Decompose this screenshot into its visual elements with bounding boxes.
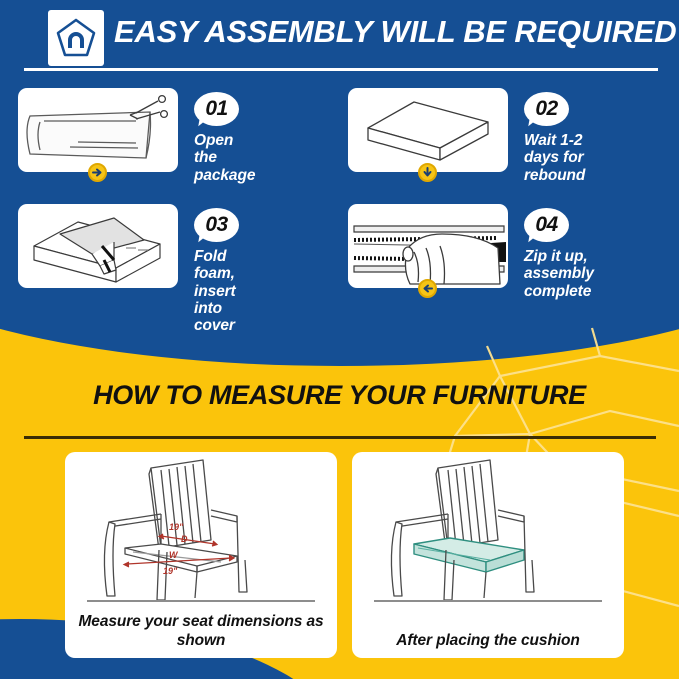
step-01-number: 01 <box>205 97 227 121</box>
step-02-number-badge: 02 <box>524 92 569 128</box>
measure-section-title: HOW TO MEASURE YOUR FURNITURE <box>0 380 679 411</box>
step-04-number-badge: 04 <box>524 208 569 244</box>
step-03-label: Fold foam, insert into cover <box>194 248 239 335</box>
measure-card-separator <box>374 600 602 602</box>
step-02-number: 02 <box>535 97 557 121</box>
measure-card-separator <box>87 600 315 602</box>
chair-with-dimension-arrows-icon: 19" D W 19" <box>65 452 337 602</box>
step-03-text: 03 Fold foam, insert into cover <box>194 208 239 335</box>
infographic-page: EASY ASSEMBLY WILL BE REQUIRED <box>0 0 679 679</box>
step-01-text: 01 Open the package <box>194 92 255 184</box>
step-02-text: 02 Wait 1-2 days for rebound <box>524 92 585 184</box>
rolled-package-icon <box>18 88 178 172</box>
foam-slab-icon <box>348 88 508 172</box>
header-divider <box>24 68 658 71</box>
measure-divider <box>24 436 656 439</box>
measure-card-caption: Measure your seat dimensions as shown <box>73 613 329 650</box>
page-title: EASY ASSEMBLY WILL BE REQUIRED <box>114 14 676 50</box>
fold-foam-into-cover-icon <box>18 204 178 288</box>
step-01-number-badge: 01 <box>194 92 239 128</box>
arrow-down-icon <box>418 163 437 182</box>
step-04-illustration-card <box>348 204 508 288</box>
arrow-left-icon <box>418 279 437 298</box>
step-03-number: 03 <box>205 213 227 237</box>
step-04-label: Zip it up, assembly complete <box>524 248 594 300</box>
measure-card-dimensions: 19" D W 19" Measure your seat dimensions… <box>65 452 337 658</box>
step-02-illustration-card <box>348 88 508 172</box>
hand-zipping-icon <box>348 204 508 288</box>
step-01-label: Open the package <box>194 132 255 184</box>
assembly-steps: 01 Open the package <box>0 84 679 314</box>
step-01-illustration-card <box>18 88 178 172</box>
step-03-illustration-card <box>18 204 178 288</box>
step-04-number: 04 <box>535 213 557 237</box>
step-04-text: 04 Zip it up, assembly complete <box>524 208 594 300</box>
chair-with-cushion-icon <box>352 452 624 602</box>
arrow-right-icon <box>88 163 107 182</box>
brand-logo <box>48 10 104 66</box>
curved-divider <box>0 316 679 366</box>
home-pentagon-icon <box>54 16 98 60</box>
measure-card-caption: After placing the cushion <box>360 632 616 650</box>
svg-text:19": 19" <box>163 566 178 576</box>
page-header: EASY ASSEMBLY WILL BE REQUIRED <box>0 0 679 82</box>
measure-card-cushion: After placing the cushion <box>352 452 624 658</box>
step-02-label: Wait 1-2 days for rebound <box>524 132 585 184</box>
svg-text:19": 19" <box>169 522 184 532</box>
svg-text:D: D <box>181 534 188 544</box>
step-03-number-badge: 03 <box>194 208 239 244</box>
